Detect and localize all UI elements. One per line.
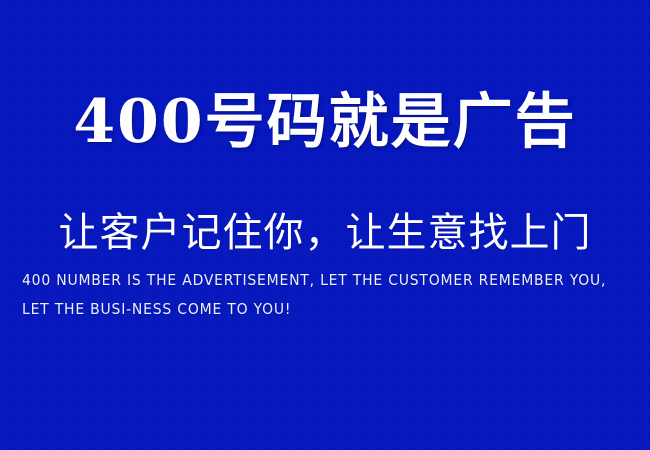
headline-text: 400号码就是广告: [73, 92, 576, 152]
subheadline-text: 让客户记住你，让生意找上门: [59, 213, 592, 253]
english-translation-block: 400 NUMBER IS THE ADVERTISEMENT, LET THE…: [22, 266, 650, 324]
subheadline: 让客户记住你，让生意找上门: [0, 206, 650, 260]
advertisement-banner: 400号码就是广告 让客户记住你，让生意找上门 400 NUMBER IS TH…: [0, 0, 650, 450]
english-translation-line-1: 400 NUMBER IS THE ADVERTISEMENT, LET THE…: [22, 266, 650, 295]
headline: 400号码就是广告: [0, 84, 650, 160]
english-translation-line-2: LET THE BUSI-NESS COME TO YOU!: [22, 295, 650, 324]
